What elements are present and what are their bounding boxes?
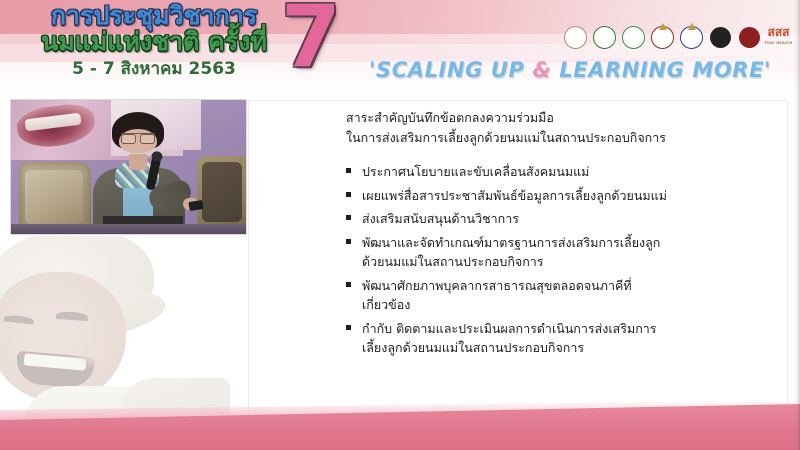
crown-icon bbox=[659, 23, 667, 30]
logo-mark bbox=[739, 27, 760, 48]
royal-patronage-seal-logo bbox=[563, 24, 588, 51]
armchair-left bbox=[19, 162, 91, 232]
bullet-text-line1: ประกาศนโยบายและขับเคลื่อนสังคมนมแม่ bbox=[362, 164, 589, 179]
content-bullet-list: ประกาศนโยบายและขับเคลื่อนสังคมนมแม่ เผยแ… bbox=[346, 162, 766, 358]
bullet-text-line2: เลี้ยงลูกด้วยนมแม่ในสถานประกอบกิจการ bbox=[362, 338, 766, 358]
logo-mark bbox=[622, 26, 645, 49]
sss-caption: THAI HEALTH bbox=[764, 38, 792, 49]
thai-breastfeeding-centre-logo bbox=[650, 24, 675, 51]
list-item: พัฒนาและจัดทำเกณฑ์มาตรฐานการส่งเสริมการเ… bbox=[346, 233, 766, 272]
bullet-square-icon bbox=[346, 192, 351, 197]
tagline-suffix: LEARNING MORE' bbox=[551, 58, 771, 82]
bullet-text-line1: ส่งเสริมสนับสนุนด้านวิชาการ bbox=[362, 211, 519, 226]
sss-text: สสส bbox=[768, 25, 790, 39]
conference-title-line1: การประชุมวิชาการ bbox=[14, 2, 294, 30]
ministry-of-public-health-logo bbox=[592, 24, 617, 51]
list-item: พัฒนาศักยภาพบุคลากรสาธารณสุขตลอดจนภาคีที… bbox=[346, 276, 766, 315]
smiling-child-watermark bbox=[0, 236, 240, 426]
sss-wordmark: สสส THAI HEALTH bbox=[764, 27, 792, 49]
glasses-icon bbox=[121, 133, 155, 142]
bullet-text-line1: เผยแพร่สื่อสารประชาสัมพันธ์ข้อมูลการเลี้… bbox=[362, 188, 667, 203]
logo-mark bbox=[593, 26, 616, 49]
stage-floor bbox=[11, 224, 246, 234]
conference-title-line2: นมแม่แห่งชาติ ครั้งที่ bbox=[14, 28, 294, 56]
conference-date: 5 - 7 สิงหาคม 2563 bbox=[14, 58, 294, 80]
slide-right-edge bbox=[794, 0, 800, 450]
slide-body: สาระสำคัญบันทึกข้อตกลงความร่วมมือ ในการส… bbox=[346, 108, 766, 362]
bullet-square-icon bbox=[346, 239, 351, 244]
content-heading-line2: ในการส่งเสริมการเลี้ยงลูกด้วยนมแม่ในสถาน… bbox=[346, 128, 766, 148]
speaker-hair bbox=[112, 112, 164, 150]
social-security-office-logo bbox=[708, 24, 733, 51]
bullet-text-line1: พัฒนาศักยภาพบุคลากรสาธารณสุขตลอดจนภาคีที… bbox=[362, 278, 632, 293]
logo-mark bbox=[564, 26, 587, 49]
list-item: เผยแพร่สื่อสารประชาสัมพันธ์ข้อมูลการเลี้… bbox=[346, 186, 766, 206]
slide-header: การประชุมวิชาการ นมแม่แห่งชาติ ครั้งที่ … bbox=[0, 0, 800, 93]
bullet-text-line2: เกี่ยวข้อง bbox=[362, 295, 766, 315]
tagline-ampersand: & bbox=[532, 58, 551, 82]
bullet-text-line1: กำกับ ติดตามและประเมินผลการดำเนินการส่งเ… bbox=[362, 321, 657, 336]
content-heading-line1: สาระสำคัญบันทึกข้อตกลงความร่วมมือ bbox=[346, 108, 766, 128]
edition-number: 7 bbox=[281, 0, 341, 80]
ministry-of-labour-logo bbox=[679, 24, 704, 51]
bullet-square-icon bbox=[346, 168, 351, 173]
thaihealth-sss-logo: สสส THAI HEALTH bbox=[766, 24, 791, 51]
department-of-health-logo bbox=[621, 24, 646, 51]
speaker-photo bbox=[10, 99, 247, 235]
bullet-square-icon bbox=[346, 282, 351, 287]
backdrop-panel-3 bbox=[161, 99, 201, 150]
department-of-labour-protection-logo bbox=[737, 24, 762, 51]
child-cheek bbox=[72, 336, 112, 370]
bullet-text-line1: พัฒนาและจัดทำเกณฑ์มาตรฐานการส่งเสริมการเ… bbox=[362, 235, 660, 250]
conference-title-block: การประชุมวิชาการ นมแม่แห่งชาติ ครั้งที่ … bbox=[14, 2, 294, 80]
conference-tagline: 'SCALING UP & LEARNING MORE' bbox=[355, 57, 785, 83]
logo-mark bbox=[710, 27, 731, 48]
crown-icon bbox=[688, 23, 696, 30]
list-item: ประกาศนโยบายและขับเคลื่อนสังคมนมแม่ bbox=[346, 162, 766, 182]
bullet-text-line2: ด้วยนมแม่ในสถานประกอบกิจการ bbox=[362, 252, 766, 272]
bullet-square-icon bbox=[346, 215, 351, 220]
speaker-neck bbox=[129, 154, 147, 170]
presentation-slide: การประชุมวิชาการ นมแม่แห่งชาติ ครั้งที่ … bbox=[0, 0, 800, 450]
bullet-square-icon bbox=[346, 325, 351, 330]
list-item: กำกับ ติดตามและประเมินผลการดำเนินการส่งเ… bbox=[346, 319, 766, 358]
list-item: ส่งเสริมสนับสนุนด้านวิชาการ bbox=[346, 209, 766, 229]
armchair-right bbox=[197, 156, 247, 234]
sponsor-logo-row: สสส THAI HEALTH bbox=[563, 24, 791, 51]
tagline-prefix: 'SCALING UP bbox=[369, 58, 533, 82]
